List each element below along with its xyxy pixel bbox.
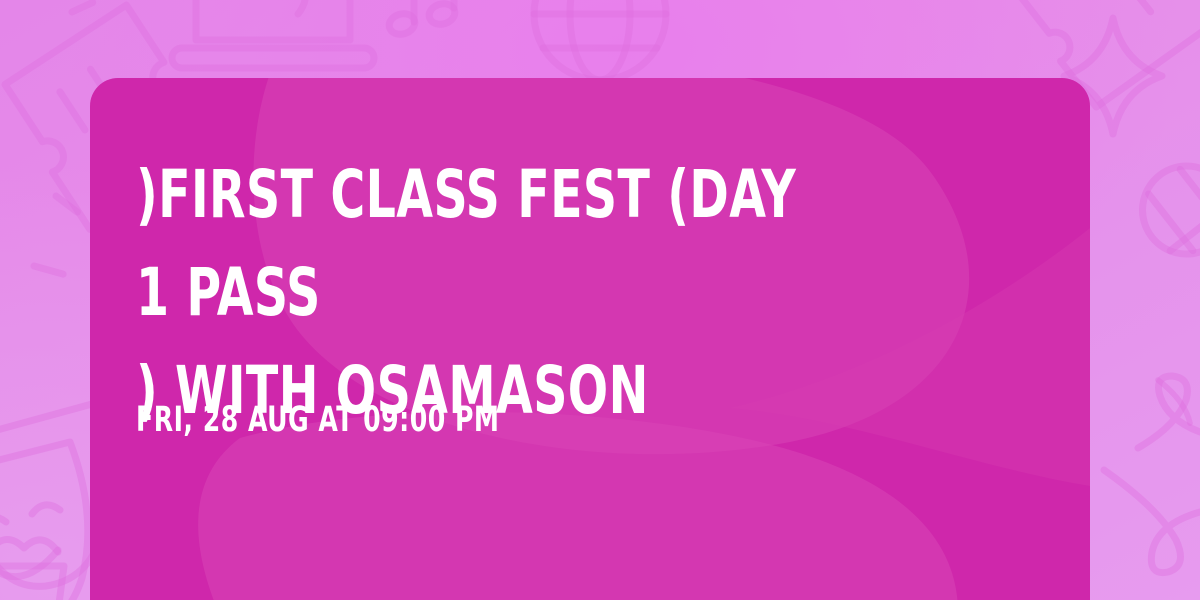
confetti-swirl-icon: [1104, 376, 1200, 573]
sparkle-icon: [54, 196, 80, 212]
microphone-icon: [1125, 148, 1200, 322]
event-card-content: )FIRST CLASS FEST (DAY 1 PASS ) WITH OSA…: [136, 78, 1036, 600]
event-datetime: FRI, 28 AUG AT 09:00 PM: [136, 400, 499, 440]
globe-icon: [534, 0, 666, 80]
sparkle-icon: [72, 0, 93, 17]
event-title: )FIRST CLASS FEST (DAY 1 PASS ) WITH OSA…: [136, 146, 808, 440]
event-banner: )FIRST CLASS FEST (DAY 1 PASS ) WITH OSA…: [0, 0, 1200, 600]
sparkle-icon: [33, 266, 63, 274]
confetti-swirl-icon: [1158, 380, 1190, 423]
laptop-icon: [172, 0, 374, 68]
event-card[interactable]: )FIRST CLASS FEST (DAY 1 PASS ) WITH OSA…: [90, 78, 1090, 600]
popcorn-icon: [0, 539, 64, 600]
music-note-icon: [387, 0, 458, 37]
